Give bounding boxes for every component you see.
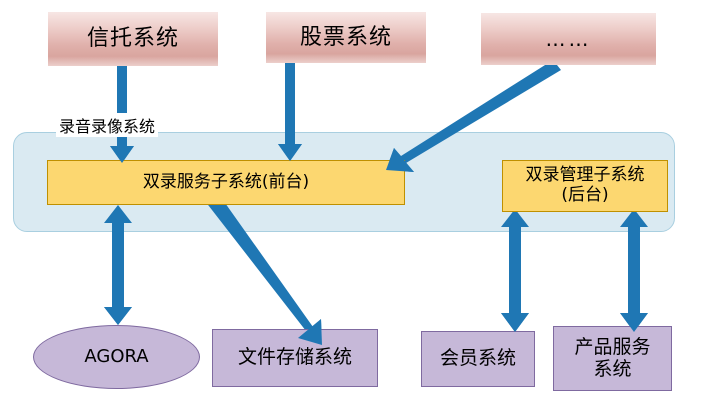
- arrowhead-member-down: [501, 313, 529, 332]
- external-box-product-service[interactable]: 产品服务 系统: [553, 326, 672, 391]
- source-label-trust: 信托系统: [87, 26, 179, 51]
- external-label-file-storage: 文件存储系统: [238, 347, 352, 369]
- subsystem-box-back-office[interactable]: 双录管理子系统 (后台): [502, 160, 668, 212]
- subsystem-label-front-office: 双录服务子系统(前台): [143, 173, 309, 193]
- external-node-agora[interactable]: AGORA: [33, 325, 200, 389]
- subsystem-label-back-office-line1: 双录管理子系统: [526, 166, 645, 186]
- arrowhead-agora-down: [104, 307, 132, 325]
- external-label-agora: AGORA: [84, 347, 148, 368]
- source-label-stock: 股票系统: [300, 25, 392, 50]
- architecture-diagram: 信托系统 股票系统 …… 录音录像系统 双录服务子系统(前台) 双录管理子系统 …: [0, 0, 701, 402]
- source-box-more[interactable]: ……: [481, 13, 656, 65]
- container-title: 录音录像系统: [56, 113, 158, 137]
- subsystem-box-front-office[interactable]: 双录服务子系统(前台): [47, 160, 405, 205]
- external-box-file-storage[interactable]: 文件存储系统: [212, 329, 378, 387]
- source-label-more: ……: [546, 28, 592, 51]
- external-label-member: 会员系统: [440, 348, 516, 370]
- external-box-member[interactable]: 会员系统: [421, 331, 535, 387]
- external-label-product-service-line2: 系统: [593, 359, 631, 381]
- source-box-trust[interactable]: 信托系统: [48, 12, 218, 66]
- subsystem-label-back-office-line2: (后台): [561, 186, 608, 206]
- source-box-stock[interactable]: 股票系统: [266, 12, 426, 63]
- external-label-product-service-line1: 产品服务: [574, 337, 650, 359]
